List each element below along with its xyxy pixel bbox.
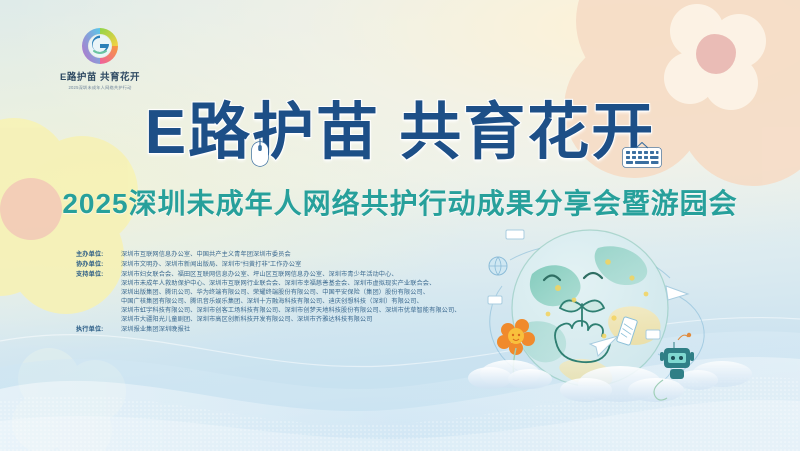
credit-line: 深圳市未成年人救助保护中心、深圳市互联网行业联合会、深圳市幸福慈善基金会、深圳市… [121,279,496,288]
brand-logo: E路护苗 共育花开 2025深圳未成年人网络共护行动 [44,24,156,91]
credit-label: 执行单位: [76,325,121,334]
keyboard-icon [622,142,662,168]
credit-value: 深圳市互联网信息办公室、中国共产主义青年团深圳市委员会 [121,250,496,259]
credit-row-coorganizer: 协办单位: 深圳市文明办、深圳市新闻出版局、深圳市“扫黄打非”工作办公室 [76,260,496,269]
credit-line: 深圳市文明办、深圳市新闻出版局、深圳市“扫黄打非”工作办公室 [121,260,496,269]
logo-text: E路护苗 共育花开 [44,72,156,83]
earth-hands-sprout-illustration [460,222,790,422]
credit-value: 深圳市妇女联合会、福田区互联网信息办公室、坪山区互联网信息办公室、深圳市青少年活… [121,270,496,324]
credit-line: 深圳市妇女联合会、福田区互联网信息办公室、坪山区互联网信息办公室、深圳市青少年活… [121,270,496,279]
credit-value: 深圳市文明办、深圳市新闻出版局、深圳市“扫黄打非”工作办公室 [121,260,496,269]
credit-row-host: 主办单位: 深圳市互联网信息办公室、中国共产主义青年团深圳市委员会 [76,250,496,259]
credit-value: 深圳报业集团深圳晚报社 [121,325,496,334]
e-sprout-circle-logo-icon [78,24,122,68]
logo-subtext: 2025深圳未成年人网络共护行动 [46,85,154,91]
credit-line: 深圳市虹宇科技有限公司、深圳市创客工场科技有限公司、深圳市创梦天地科技股份有限公… [121,306,496,315]
credit-line: 深圳市大疆阳光儿童剧团、深圳市高区创新科技开发有限公司、深圳市齐雅达科技有限公司 [121,315,496,324]
credit-label: 主办单位: [76,250,121,259]
main-title-wrap: E路护苗 共育花开 [0,96,800,170]
main-title-text: E路护苗 共育花开 [145,98,656,167]
credit-row-support: 支持单位: 深圳市妇女联合会、福田区互联网信息办公室、坪山区互联网信息办公室、深… [76,270,496,324]
credit-line: 深圳报业集团深圳晚报社 [121,325,496,334]
credits-block: 主办单位: 深圳市互联网信息办公室、中国共产主义青年团深圳市委员会 协办单位: … [76,250,496,335]
main-title: E路护苗 共育花开 [145,96,656,170]
credit-row-executor: 执行单位: 深圳报业集团深圳晚报社 [76,325,496,334]
poster-canvas: E路护苗 共育花开 2025深圳未成年人网络共护行动 E路护苗 共育花开 [0,0,800,451]
credit-label: 协办单位: [76,260,121,269]
credit-label: 支持单位: [76,270,121,279]
mouse-icon [250,138,270,168]
credit-line: 中国广核集团有限公司、腾讯音乐娱乐集团、深圳十方融海科技有限公司、迪庆创想科技（… [121,297,496,306]
credit-line: 深圳出版集团、腾讯公司、华为终端有限公司、荣耀终端股份有限公司、中国平安保险（集… [121,288,496,297]
subtitle: 2025深圳未成年人网络共护行动成果分享会暨游园会 [0,182,800,222]
credit-line: 深圳市互联网信息办公室、中国共产主义青年团深圳市委员会 [121,250,496,259]
